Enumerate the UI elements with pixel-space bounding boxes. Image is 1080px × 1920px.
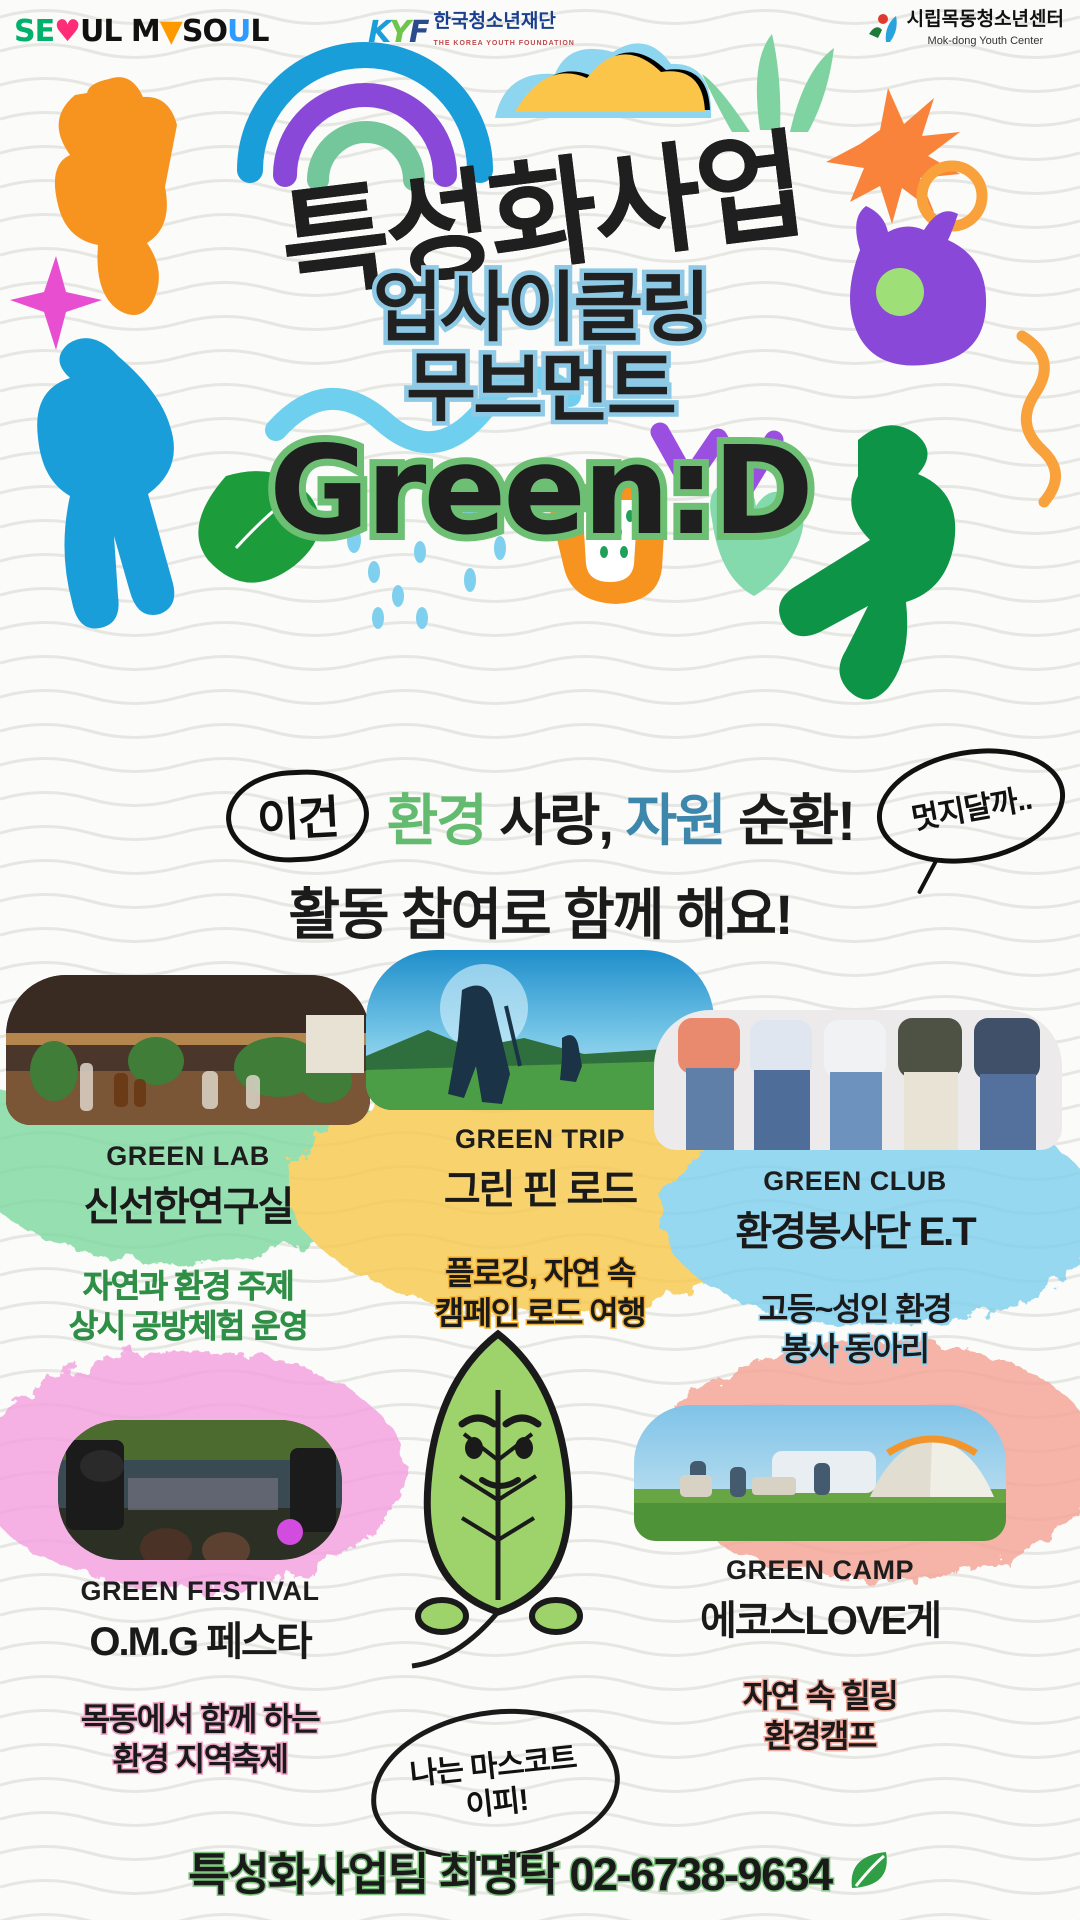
- tagline-line-1: 환경 사랑, 자원 순환!: [387, 776, 854, 857]
- footer-contact: 특성화사업팀 최명탁 02-6738-9634: [0, 1838, 1080, 1903]
- green-club-photo: [654, 1010, 1062, 1150]
- tagline-word-cycle: 순환!: [725, 789, 854, 852]
- logo-seoul-my-soul: SE♥UL M▼SOUL: [14, 14, 268, 49]
- kyf-mark: KYF: [368, 15, 427, 50]
- green-lab-desc-2: 상시 공방체험 운영: [6, 1306, 370, 1346]
- green-camp-desc-2: 환경캠프: [600, 1716, 1040, 1756]
- tagline-block: 이건 환경 사랑, 자원 순환! 활동 참여로 함께 해요! 멋지달까..: [0, 770, 1080, 951]
- mokdong-person-icon: [866, 12, 900, 46]
- kyf-english: THE KOREA YOUTH FOUNDATION: [433, 40, 574, 47]
- green-lab-photo: [6, 975, 370, 1125]
- tagline-line-2: 활동 참여로 함께 해요!: [0, 870, 1080, 951]
- mascot-ipi: [370, 1320, 630, 1720]
- mascot-bubble-line-2: 이피!: [464, 1784, 529, 1823]
- subtitle-line-2: 무브먼트: [0, 352, 1080, 426]
- mascot-bubble-line-1: 나는 마스코트: [408, 1741, 577, 1791]
- green-club-desc-2: 봉사 동아리: [630, 1329, 1080, 1369]
- green-camp-desc-1: 자연 속 힐링: [600, 1676, 1040, 1716]
- green-festival-photo: [58, 1420, 342, 1560]
- logo-mokdong-youth-center: 시립목동청소년센터 Mok-dong Youth Center: [866, 10, 1064, 49]
- program-card-green-festival[interactable]: GREEN FESTIVAL O.M.G 페스타 목동에서 함께 하는 환경 지…: [20, 1420, 380, 1779]
- green-club-label-en: GREEN CLUB: [630, 1166, 1080, 1197]
- tagline-word-love: 사랑,: [486, 789, 626, 852]
- green-lab-desc-1: 자연과 환경 주제: [6, 1266, 370, 1306]
- footer-contact-text: 특성화사업팀 최명탁 02-6738-9634: [188, 1838, 831, 1903]
- green-festival-desc-1: 목동에서 함께 하는: [20, 1699, 380, 1739]
- brand-logo-greend: Green:D: [0, 420, 1080, 562]
- program-card-green-lab[interactable]: GREEN LAB 신선한연구실 자연과 환경 주제 상시 공방체험 운영: [6, 975, 370, 1346]
- green-festival-label-en: GREEN FESTIVAL: [20, 1576, 380, 1607]
- green-camp-photo: [634, 1405, 1006, 1541]
- subtitle-line-1: 업사이클링: [0, 272, 1080, 346]
- kyf-korean: 한국청소년재단: [433, 11, 555, 32]
- badge-igeon: 이건: [224, 766, 371, 865]
- green-lab-label-kr: 신선한연구실: [6, 1174, 370, 1232]
- green-festival-desc-2: 환경 지역축제: [20, 1739, 380, 1779]
- tagline-word-environment: 환경: [387, 789, 486, 852]
- green-camp-label-kr: 에코스LOVE게: [600, 1588, 1040, 1646]
- mokdong-english: Mok-dong Youth Center: [928, 35, 1044, 47]
- green-lab-label-en: GREEN LAB: [6, 1141, 370, 1172]
- green-camp-label-en: GREEN CAMP: [600, 1555, 1040, 1586]
- leaf-icon: [846, 1848, 892, 1894]
- green-festival-label-kr: O.M.G 페스타: [20, 1609, 380, 1667]
- tagline-word-resource: 자원: [626, 789, 725, 852]
- logo-kyf: KYF 한국청소년재단 THE KOREA YOUTH FOUNDATION: [368, 12, 575, 50]
- program-card-green-club[interactable]: GREEN CLUB 환경봉사단 E.T 고등~성인 환경 봉사 동아리: [630, 1010, 1080, 1369]
- program-card-green-camp[interactable]: GREEN CAMP 에코스LOVE게 자연 속 힐링 환경캠프: [600, 1405, 1040, 1756]
- green-club-label-kr: 환경봉사단 E.T: [630, 1199, 1080, 1257]
- mokdong-korean: 시립목동청소년센터: [907, 9, 1064, 30]
- green-club-desc-1: 고등~성인 환경: [630, 1289, 1080, 1329]
- header-logos: SE♥UL M▼SOUL KYF 한국청소년재단 THE KOREA YOUTH…: [0, 0, 1080, 70]
